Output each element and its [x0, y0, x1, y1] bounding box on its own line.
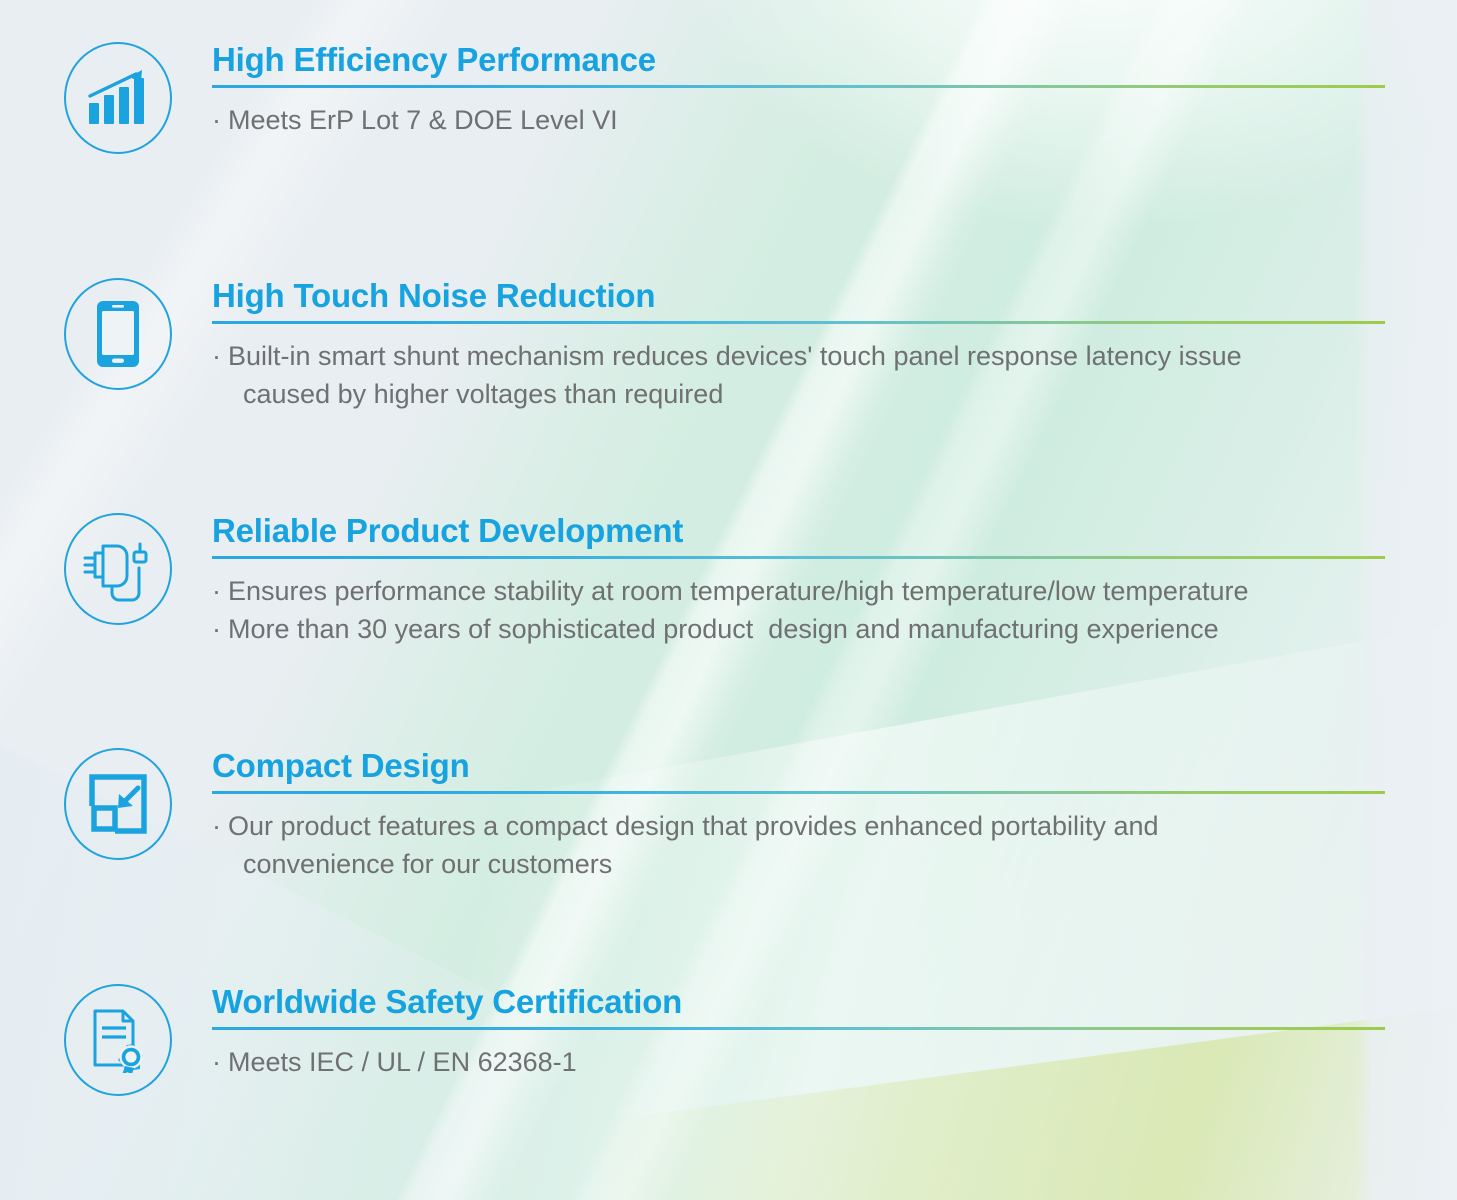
feature-bullet-list: · Ensures performance stability at room … — [212, 572, 1385, 649]
feature-bullet-list: · Meets IEC / UL / EN 62368-1 — [212, 1043, 1385, 1082]
feature-icon-wrapper — [56, 513, 180, 625]
icon-circle-frame — [64, 278, 172, 390]
bullet-text: Built-in smart shunt mechanism reduces d… — [228, 337, 1242, 414]
feature-bullet-list: · Meets ErP Lot 7 & DOE Level VI — [212, 101, 1385, 140]
feature-text-block: Worldwide Safety Certification · Meets I… — [180, 984, 1385, 1081]
bullet-text: Meets ErP Lot 7 & DOE Level VI — [228, 101, 618, 140]
feature-bullet: · Our product features a compact design … — [212, 807, 1385, 884]
feature-title: High Touch Noise Reduction — [212, 278, 1385, 314]
bullet-text: Meets IEC / UL / EN 62368-1 — [228, 1043, 577, 1082]
feature-text-block: Compact Design · Our product features a … — [180, 748, 1385, 884]
icon-circle-frame — [64, 42, 172, 154]
feature-icon-wrapper — [56, 748, 180, 860]
feature-bullet: · Ensures performance stability at room … — [212, 572, 1385, 611]
feature-title: Reliable Product Development — [212, 513, 1385, 549]
feature-text-block: Reliable Product Development · Ensures p… — [180, 513, 1385, 649]
feature-title: Worldwide Safety Certification — [212, 984, 1385, 1020]
feature-bullet: · Meets ErP Lot 7 & DOE Level VI — [212, 101, 1385, 140]
feature-item-high-efficiency-performance: High Efficiency Performance · Meets ErP … — [56, 42, 1385, 154]
feature-divider — [212, 791, 1385, 794]
icon-circle-frame — [64, 984, 172, 1096]
feature-divider — [212, 321, 1385, 324]
feature-divider — [212, 1027, 1385, 1030]
feature-item-reliable-product-development: Reliable Product Development · Ensures p… — [56, 513, 1385, 649]
bullet-text: Ensures performance stability at room te… — [228, 572, 1248, 611]
feature-bullet: · Built-in smart shunt mechanism reduces… — [212, 337, 1385, 414]
bullet-marker: · — [212, 807, 228, 884]
feature-text-block: High Touch Noise Reduction · Built-in sm… — [180, 278, 1385, 414]
feature-title: High Efficiency Performance — [212, 42, 1385, 78]
feature-title: Compact Design — [212, 748, 1385, 784]
feature-bullet-list: · Our product features a compact design … — [212, 807, 1385, 884]
feature-item-compact-design: Compact Design · Our product features a … — [56, 748, 1385, 884]
bullet-marker: · — [212, 337, 228, 414]
icon-circle-frame — [64, 748, 172, 860]
feature-item-high-touch-noise-reduction: High Touch Noise Reduction · Built-in sm… — [56, 278, 1385, 414]
compact-resize-icon — [88, 774, 148, 834]
feature-icon-wrapper — [56, 984, 180, 1096]
feature-bullet-list: · Built-in smart shunt mechanism reduces… — [212, 337, 1385, 414]
bullet-marker: · — [212, 101, 228, 140]
feature-icon-wrapper — [56, 42, 180, 154]
power-adapter-icon — [80, 534, 156, 604]
feature-divider — [212, 85, 1385, 88]
feature-icon-wrapper — [56, 278, 180, 390]
smartphone-icon — [96, 300, 140, 368]
bullet-marker: · — [212, 1043, 228, 1082]
bullet-marker: · — [212, 572, 228, 611]
certificate-seal-icon — [86, 1007, 150, 1073]
feature-bullet: · More than 30 years of sophisticated pr… — [212, 610, 1385, 649]
growth-bar-chart-icon — [87, 69, 149, 127]
feature-item-worldwide-safety-certification: Worldwide Safety Certification · Meets I… — [56, 984, 1385, 1096]
feature-text-block: High Efficiency Performance · Meets ErP … — [180, 42, 1385, 139]
icon-circle-frame — [64, 513, 172, 625]
bullet-text: Our product features a compact design th… — [228, 807, 1159, 884]
feature-bullet: · Meets IEC / UL / EN 62368-1 — [212, 1043, 1385, 1082]
bullet-marker: · — [212, 610, 228, 649]
feature-highlights-page: High Efficiency Performance · Meets ErP … — [0, 0, 1457, 1200]
bullet-text: More than 30 years of sophisticated prod… — [228, 610, 1219, 649]
feature-list: High Efficiency Performance · Meets ErP … — [0, 0, 1457, 1200]
feature-divider — [212, 556, 1385, 559]
